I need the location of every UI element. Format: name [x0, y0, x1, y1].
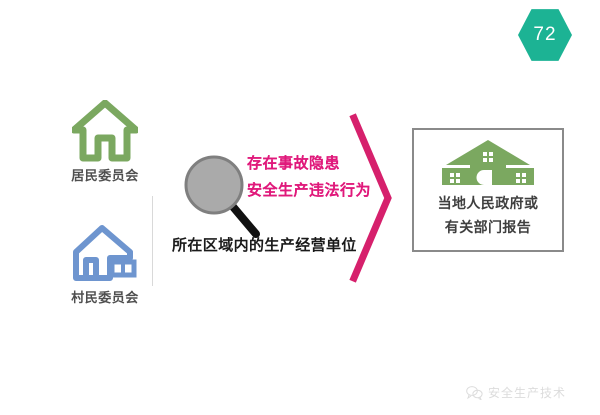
- chevron-right-icon: [348, 112, 394, 284]
- government-building-icon: [440, 139, 536, 187]
- wechat-logo-icon: [466, 385, 483, 400]
- list-item-label: 居民委员会: [71, 165, 139, 184]
- subject-caption: 所在区域内的生产经营单位: [172, 234, 357, 255]
- watermark-text: 安全生产技术: [488, 384, 566, 401]
- hexagon-shape: 72: [518, 8, 572, 62]
- list-item-villagers-committee: 村民委员会: [60, 222, 150, 306]
- footer-watermark: 安全生产技术: [466, 384, 566, 401]
- destination-box: 当地人民政府或 有关部门报告: [412, 128, 564, 252]
- list-item-residents-committee: 居民委员会: [60, 100, 150, 184]
- destination-line-1: 当地人民政府或: [438, 191, 539, 215]
- page-number-badge: 72: [518, 8, 572, 62]
- house-icon: [72, 222, 138, 284]
- vertical-divider: [152, 196, 153, 286]
- list-item-label: 村民委员会: [71, 287, 139, 306]
- slide-canvas: 72 居民委员会 村民委员会 存在事故隐患 安全生产违法行为: [0, 0, 600, 415]
- page-number: 72: [533, 24, 556, 46]
- organisation-list: 居民委员会 村民委员会: [60, 100, 150, 306]
- destination-line-2: 有关部门报告: [445, 215, 531, 239]
- house-icon: [72, 100, 138, 162]
